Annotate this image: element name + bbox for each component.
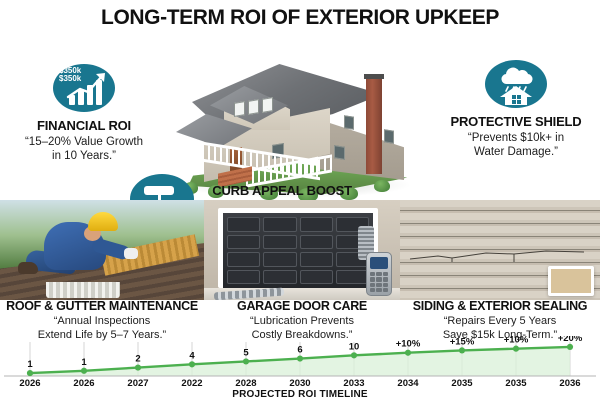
- side-window-upper: [344, 115, 354, 130]
- remote-key: [370, 283, 375, 287]
- garage-door-panels: [227, 217, 369, 284]
- chart-x-tick-label: 2035: [451, 378, 473, 388]
- garage-panel: [336, 270, 369, 285]
- garage-panel: [263, 252, 296, 267]
- curb-appeal-title: CURB APPEAL BOOST: [206, 183, 358, 198]
- projected-roi-timeline-chart: 120261202622027420225202862030102033+10%…: [0, 336, 600, 400]
- chart-x-tick-label: 2022: [181, 378, 202, 388]
- remote-key: [376, 288, 381, 292]
- chart-data-point[interactable]: [243, 358, 249, 364]
- remote-key: [376, 277, 381, 281]
- caption-garage-door: GARAGE DOOR CARE “Lubrication Prevents C…: [204, 300, 400, 336]
- siding-crack: [408, 248, 588, 262]
- protective-shield-subtitle-line2: Water Damage.”: [436, 145, 596, 159]
- garage-panel: [263, 217, 296, 232]
- garage-panel: [300, 235, 333, 250]
- chart-data-point[interactable]: [459, 347, 465, 353]
- side-window-lower: [334, 145, 345, 160]
- chart-point-label: 6: [297, 345, 302, 356]
- remote-key: [383, 288, 388, 292]
- chart-data-point[interactable]: [297, 355, 303, 361]
- chart-x-tick-label: 2036: [559, 378, 580, 388]
- garage-panel: [227, 270, 260, 285]
- garage-panel: [227, 235, 260, 250]
- photo-row: [0, 200, 600, 300]
- chimney-cap: [364, 74, 384, 79]
- caption-title: GARAGE DOOR CARE: [204, 300, 400, 314]
- rain-cloud-house-icon: [485, 60, 547, 108]
- caption-title: ROOF & GUTTER MAINTENANCE: [0, 300, 204, 314]
- garage-door: [223, 213, 373, 288]
- cracked-vinyl-siding-photo: [400, 200, 600, 300]
- highlight-protective-shield: PROTECTIVE SHIELD “Prevents $10k+ in Wat…: [436, 60, 596, 160]
- chart-x-tick-label: 2030: [289, 378, 310, 388]
- photo-caption-row: ROOF & GUTTER MAINTENANCE “Annual Inspec…: [0, 300, 600, 336]
- garage-panel: [300, 217, 333, 232]
- chart-x-tick-label: 2028: [235, 378, 256, 388]
- chart-data-point[interactable]: [567, 344, 573, 350]
- chart-point-label: 5: [243, 347, 249, 358]
- garage-panel: [227, 252, 260, 267]
- financial-roi-title: FINANCIAL ROI: [4, 118, 164, 133]
- chart-data-point[interactable]: [135, 364, 141, 370]
- chart-x-axis-label: PROJECTED ROI TIMELINE: [0, 389, 600, 400]
- garage-remote-keypad: [366, 252, 392, 296]
- chart-point-label: 1: [27, 359, 33, 370]
- caption-subtitle-line1: “Repairs Every 5 Years: [400, 315, 600, 328]
- upper-window-right: [262, 97, 273, 113]
- remote-key: [370, 272, 375, 276]
- shrub-6: [374, 180, 390, 192]
- protective-shield-subtitle: “Prevents $10k+ in Water Damage.”: [436, 131, 596, 160]
- chart-point-label: 10: [349, 341, 360, 352]
- financial-roi-subtitle-line2: in 10 Years.”: [4, 149, 164, 163]
- caption-subtitle-line1: “Annual Inspections: [0, 315, 204, 328]
- remote-key: [370, 288, 375, 292]
- chart-x-tick-label: 2035: [505, 378, 527, 388]
- chart-data-point[interactable]: [189, 361, 195, 367]
- chart-data-point[interactable]: [351, 352, 357, 358]
- financial-roi-subtitle: “15–20% Value Growth in 10 Years.”: [4, 135, 164, 164]
- caption-subtitle-line1: “Lubrication Prevents: [204, 315, 400, 328]
- protective-shield-subtitle-line1: “Prevents $10k+ in: [436, 131, 596, 145]
- upper-window-left: [234, 101, 245, 117]
- protective-shield-title: PROTECTIVE SHIELD: [436, 114, 596, 129]
- gutter: [46, 282, 120, 298]
- highlight-financial-roi: $350k $350k FINANCIAL ROI “15–20% Value …: [4, 64, 164, 164]
- chart-point-label: +10%: [396, 339, 421, 350]
- chart-data-point[interactable]: [81, 368, 87, 374]
- upper-window-mid: [248, 99, 259, 115]
- chart-data-point[interactable]: [27, 370, 33, 376]
- chart-data-point[interactable]: [513, 346, 519, 352]
- chart-point-label: +15%: [450, 336, 475, 347]
- chart-point-label: 2: [135, 354, 140, 365]
- brick-chimney: [366, 76, 382, 174]
- caption-roof-gutter: ROOF & GUTTER MAINTENANCE “Annual Inspec…: [0, 300, 204, 336]
- garage-panel: [263, 270, 296, 285]
- remote-key: [383, 277, 388, 281]
- top-highlight-band: $350k $350k FINANCIAL ROI “15–20% Value …: [0, 28, 600, 196]
- bar-chart-growth-icon: $350k $350k: [53, 64, 115, 112]
- garage-panel: [263, 235, 296, 250]
- chart-x-tick-label: 2026: [73, 378, 94, 388]
- garage-panel: [300, 270, 333, 285]
- chart-x-tick-label: 2034: [397, 378, 419, 388]
- roofer-installing-shingles-photo: [0, 200, 204, 300]
- caption-siding-sealing: SIDING & EXTERIOR SEALING “Repairs Every…: [400, 300, 600, 336]
- chart-data-point[interactable]: [405, 350, 411, 356]
- chart-x-tick-label: 2033: [343, 378, 364, 388]
- garage-panel: [300, 252, 333, 267]
- side-window-far: [384, 129, 394, 144]
- remote-key: [376, 272, 381, 276]
- financial-badge-line2: $350k: [59, 75, 81, 83]
- remote-keys: [370, 272, 388, 292]
- garage-panel: [227, 217, 260, 232]
- worker-glove: [124, 248, 138, 259]
- remote-key: [370, 277, 375, 281]
- siding-color-swatch: [548, 266, 594, 296]
- chart-x-tick-label: 2026: [19, 378, 40, 388]
- remote-screen: [370, 257, 388, 269]
- chart-point-label: +10%: [504, 336, 529, 346]
- chart-point-label: +20%: [558, 336, 583, 344]
- chart-x-tick-label: 2027: [127, 378, 148, 388]
- remote-key: [383, 283, 388, 287]
- page-title: LONG-TERM ROI OF EXTERIOR UPKEEP: [0, 0, 600, 28]
- remote-key: [383, 272, 388, 276]
- financial-roi-subtitle-line1: “15–20% Value Growth: [4, 135, 164, 149]
- chart-point-label: 4: [189, 350, 195, 361]
- worker-boot: [18, 262, 38, 274]
- dark-garage-door-photo: [204, 200, 400, 300]
- roi-line-chart-svg: 120261202622027420225202862030102033+10%…: [0, 336, 600, 388]
- remote-key: [376, 283, 381, 287]
- caption-title: SIDING & EXTERIOR SEALING: [400, 300, 600, 314]
- chart-point-label: 1: [81, 357, 87, 368]
